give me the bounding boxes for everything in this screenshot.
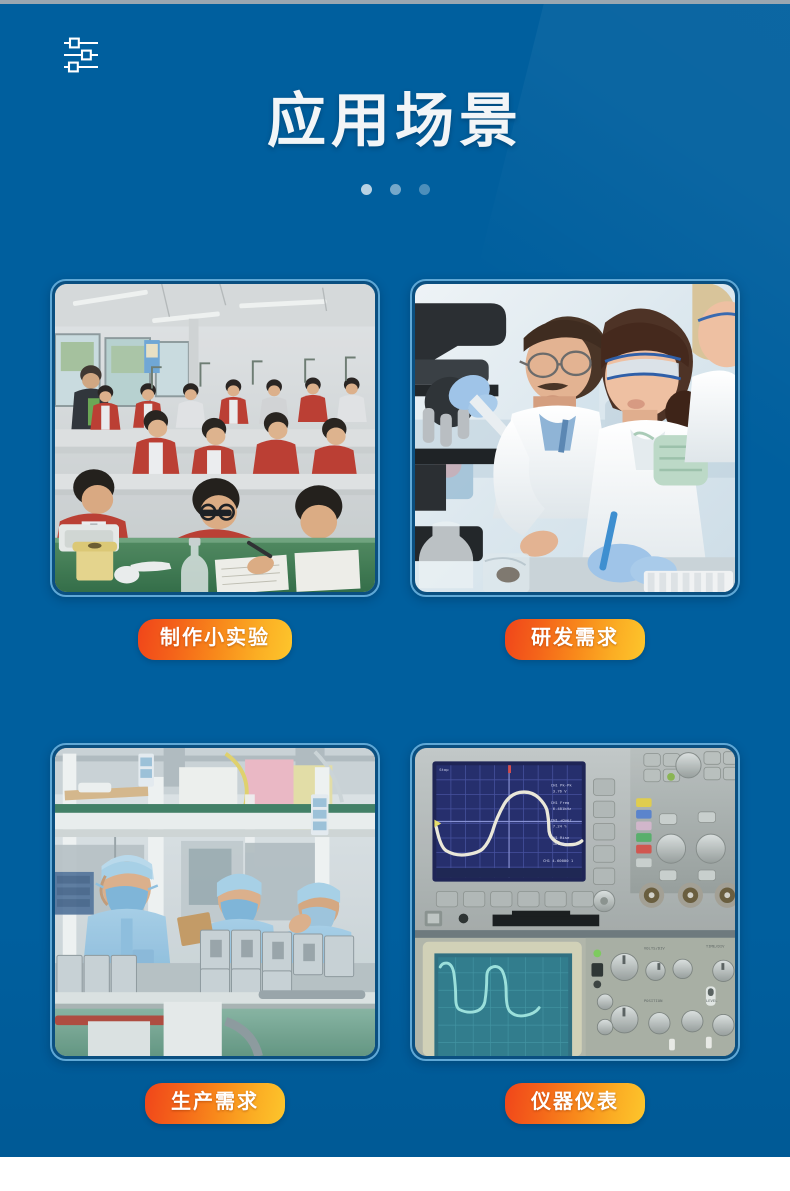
dots-indicator (0, 184, 790, 195)
scenario-tag-1[interactable]: 制作小实验 (138, 619, 292, 660)
sliders-icon[interactable] (62, 36, 100, 74)
factory-assembly-line-photo (55, 748, 375, 1056)
dot-3[interactable] (419, 184, 430, 195)
scenario-card-3[interactable]: 生产需求 (50, 743, 380, 1124)
scenario-tag-4[interactable]: 仪器仪表 (505, 1083, 645, 1124)
photo-frame-3 (50, 743, 380, 1061)
page-title: 应用场景 (0, 92, 790, 151)
blue-panel: 应用场景 (0, 4, 790, 1157)
photo-frame-4: Stop CH1 Pk-Pk3.76 V CH1 Freq6.481kHz CH… (410, 743, 740, 1061)
scenario-tag-3[interactable]: 生产需求 (145, 1083, 285, 1124)
researchers-microscope-photo (415, 284, 735, 592)
page-root: 应用场景 (0, 0, 790, 1191)
scenario-card-1[interactable]: 制作小实验 (50, 279, 380, 660)
scenario-card-4[interactable]: Stop CH1 Pk-Pk3.76 V CH1 Freq6.481kHz CH… (410, 743, 740, 1124)
dot-1[interactable] (361, 184, 372, 195)
photo-frame-2 (410, 279, 740, 597)
dot-2[interactable] (390, 184, 401, 195)
classroom-students-lab-photo (55, 284, 375, 592)
scenario-tag-2[interactable]: 研发需求 (505, 619, 645, 660)
photo-frame-1 (50, 279, 380, 597)
scenario-grid: 制作小实验 (0, 279, 790, 1124)
scenario-card-2[interactable]: 研发需求 (410, 279, 740, 660)
oscilloscope-instruments-photo: Stop CH1 Pk-Pk3.76 V CH1 Freq6.481kHz CH… (415, 748, 735, 1056)
